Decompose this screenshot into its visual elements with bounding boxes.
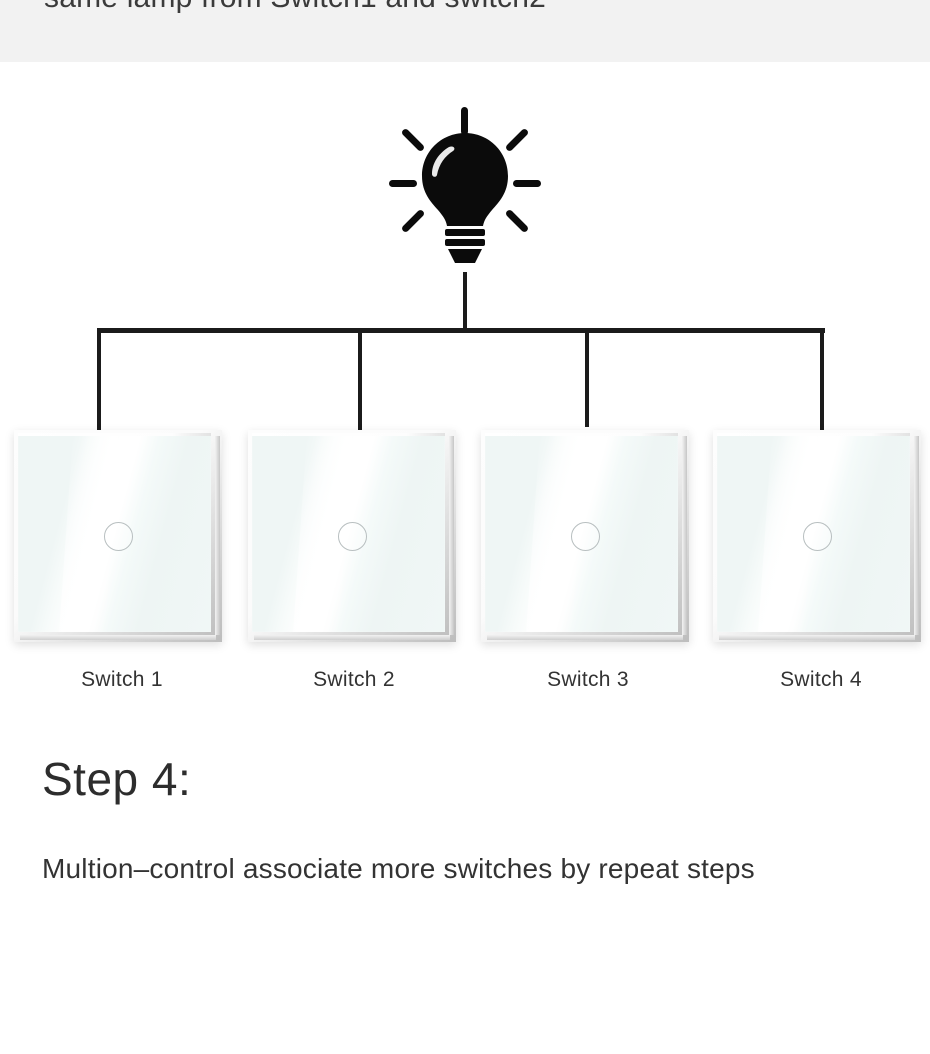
switch-panel-4[interactable] — [713, 430, 921, 642]
switch-panel-1[interactable] — [14, 430, 222, 642]
switch-panel-2[interactable] — [248, 430, 456, 642]
panel-right-edge — [449, 436, 454, 635]
wire-bus-bar — [97, 328, 825, 333]
wire-drop-switch-2 — [358, 331, 362, 434]
switch-label-2: Switch 2 — [250, 668, 458, 692]
switch-label-1: Switch 1 — [18, 668, 226, 692]
panel-top-edge — [252, 433, 445, 436]
wiring-diagram: Switch 1 Switch 2 Switch 3 Switch 4 — [0, 62, 930, 722]
touch-button-icon[interactable] — [803, 522, 832, 551]
panel-bottom-edge — [20, 635, 216, 640]
touch-button-icon[interactable] — [104, 522, 133, 551]
panel-top-edge — [18, 433, 211, 436]
wire-drop-switch-3 — [585, 331, 589, 427]
top-caption-band: same lamp from Switch1 and switch2 — [0, 0, 930, 62]
top-caption-text: same lamp from Switch1 and switch2 — [44, 0, 546, 18]
switch-label-4: Switch 4 — [717, 668, 925, 692]
step-body-text: Multion–control associate more switches … — [42, 840, 832, 898]
panel-right-edge — [914, 436, 919, 635]
wire-drop-switch-1 — [97, 331, 101, 434]
switch-label-3: Switch 3 — [484, 668, 692, 692]
wire-lamp-stem — [463, 272, 467, 331]
light-bulb-icon — [389, 107, 541, 269]
touch-button-icon[interactable] — [571, 522, 600, 551]
panel-bottom-edge — [487, 635, 683, 640]
panel-top-edge — [485, 433, 678, 436]
panel-right-edge — [682, 436, 687, 635]
panel-bottom-edge — [719, 635, 915, 640]
touch-button-icon[interactable] — [338, 522, 367, 551]
wire-drop-switch-4 — [820, 331, 824, 434]
step-heading: Step 4: — [42, 752, 191, 806]
panel-right-edge — [215, 436, 220, 635]
switch-panel-3[interactable] — [481, 430, 689, 642]
panel-top-edge — [717, 433, 910, 436]
panel-bottom-edge — [254, 635, 450, 640]
